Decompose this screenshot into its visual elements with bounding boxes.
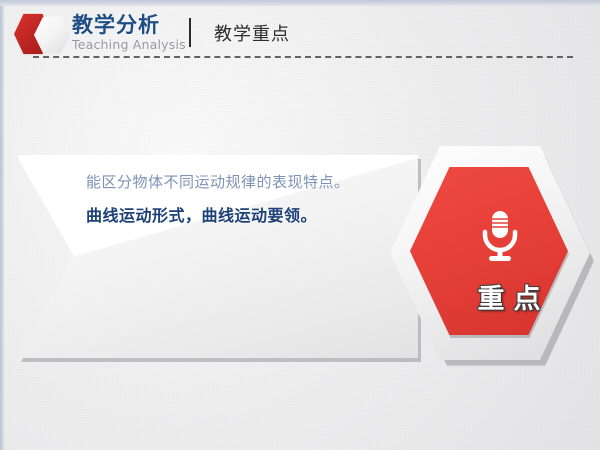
slide-canvas: 教学分析 Teaching Analysis 教学重点 能区分物体不同运动规律的…: [0, 0, 600, 450]
brand-title-en: Teaching Analysis: [72, 37, 186, 52]
banner-text-block: 能区分物体不同运动规律的表现特点。 曲线运动形式，曲线运动要领。: [86, 169, 396, 231]
banner-line-1: 能区分物体不同运动规律的表现特点。: [86, 169, 396, 195]
slide-header: 教学分析 Teaching Analysis 教学重点: [0, 6, 600, 58]
banner-line-2: 曲线运动形式，曲线运动要领。: [86, 201, 396, 231]
header-dashed-rule: [33, 56, 573, 58]
left-edge-strip: [0, 0, 4, 450]
header-divider: [189, 18, 191, 47]
content-banner: 能区分物体不同运动规律的表现特点。 曲线运动形式，曲线运动要领。: [18, 155, 418, 358]
brand-title-cn: 教学分析: [72, 14, 186, 36]
brand-block: 教学分析 Teaching Analysis: [72, 14, 186, 52]
page-title: 教学重点: [214, 20, 290, 46]
focus-badge: 重点: [390, 146, 600, 368]
microphone-icon: [478, 211, 522, 263]
